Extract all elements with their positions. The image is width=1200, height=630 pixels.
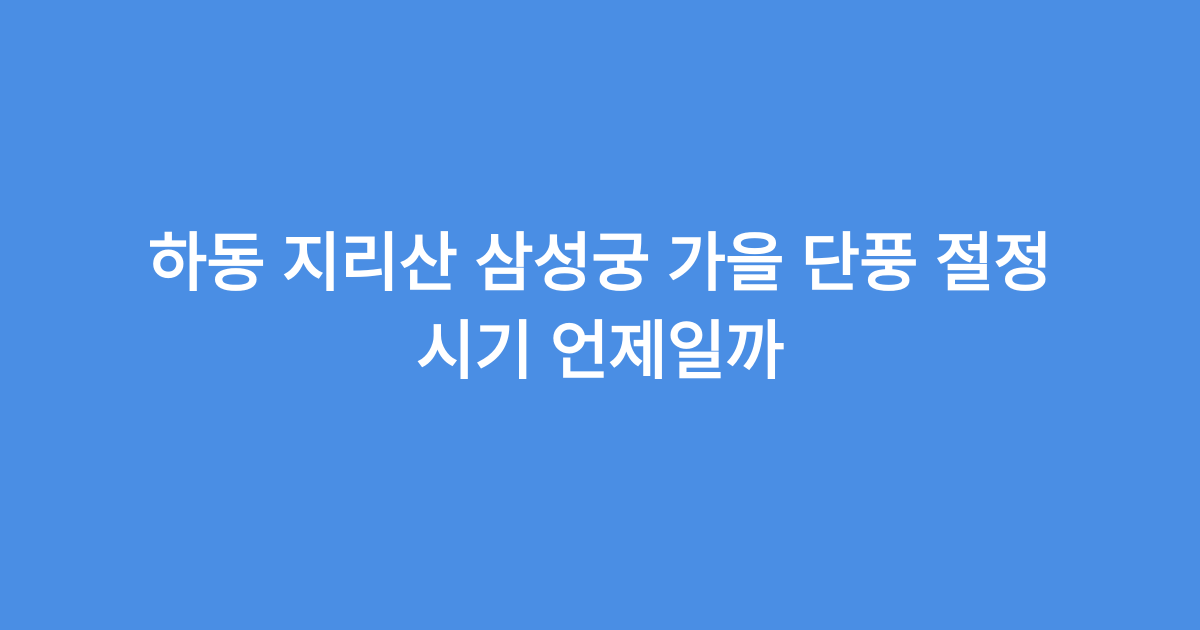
page-title: 하동 지리산 삼성궁 가을 단풍 절정 시기 언제일까: [95, 219, 1105, 396]
og-thumbnail-card: 하동 지리산 삼성궁 가을 단풍 절정 시기 언제일까: [0, 0, 1200, 630]
title-block: 하동 지리산 삼성궁 가을 단풍 절정 시기 언제일까: [95, 219, 1105, 412]
